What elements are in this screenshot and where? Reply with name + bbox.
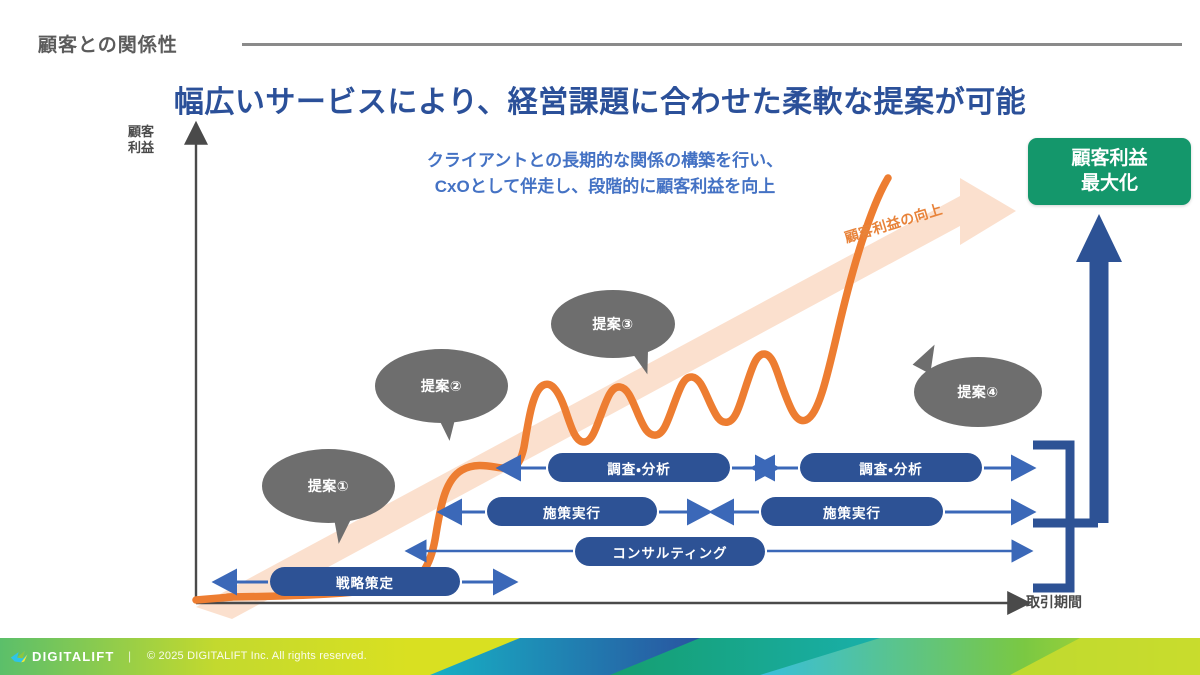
proposal-bubble-4: 提案④ <box>914 357 1042 427</box>
proposal-bubble-3-label: 提案③ <box>592 314 633 334</box>
y-axis-label-line-2: 利益 <box>128 140 154 156</box>
x-axis-label: 取引期間 <box>1026 592 1082 612</box>
bubble-tail-icon <box>435 410 460 442</box>
process-pill-research-2: 調査・分析 <box>800 453 982 482</box>
proposal-bubble-1: 提案① <box>262 449 395 523</box>
footer-bar: DIGITALIFT | © 2025 DIGITALIFT Inc. All … <box>0 638 1200 675</box>
y-axis-label-line-1: 顧客 <box>128 124 154 140</box>
goal-box-line-2: 最大化 <box>1081 172 1138 197</box>
process-pill-execution-2: 施策実行 <box>761 497 943 526</box>
digitalift-logo-icon <box>10 647 29 665</box>
process-pill-research-1: 調査・分析 <box>548 453 730 482</box>
footer-copyright: © 2025 DIGITALIFT Inc. All rights reserv… <box>147 650 367 662</box>
summary-bracket-arrow <box>1033 214 1122 588</box>
goal-box-line-1: 顧客利益 <box>1071 147 1147 172</box>
process-pill-consulting: コンサルティング <box>575 537 765 566</box>
footer-brand: DIGITALIFT <box>32 649 115 664</box>
proposal-bubble-2: 提案② <box>375 349 508 423</box>
footer-separator: | <box>128 649 131 663</box>
goal-box: 顧客利益 最大化 <box>1028 138 1191 205</box>
chart-axes <box>196 140 1012 603</box>
bubble-tail-icon <box>328 510 354 546</box>
proposal-bubble-1-label: 提案① <box>308 476 349 496</box>
growth-curve <box>196 178 888 600</box>
process-pill-execution-1: 施策実行 <box>487 497 657 526</box>
process-pill-strategy: 戦略策定 <box>270 567 460 596</box>
proposal-bubble-3: 提案③ <box>551 290 675 358</box>
proposal-bubble-2-label: 提案② <box>421 376 462 396</box>
y-axis-label: 顧客 利益 <box>128 124 154 157</box>
proposal-bubble-4-label: 提案④ <box>957 382 998 402</box>
slide-canvas: 顧客との関係性 幅広いサービスにより、経営課題に合わせた柔軟な提案が可能 クライ… <box>0 0 1200 675</box>
